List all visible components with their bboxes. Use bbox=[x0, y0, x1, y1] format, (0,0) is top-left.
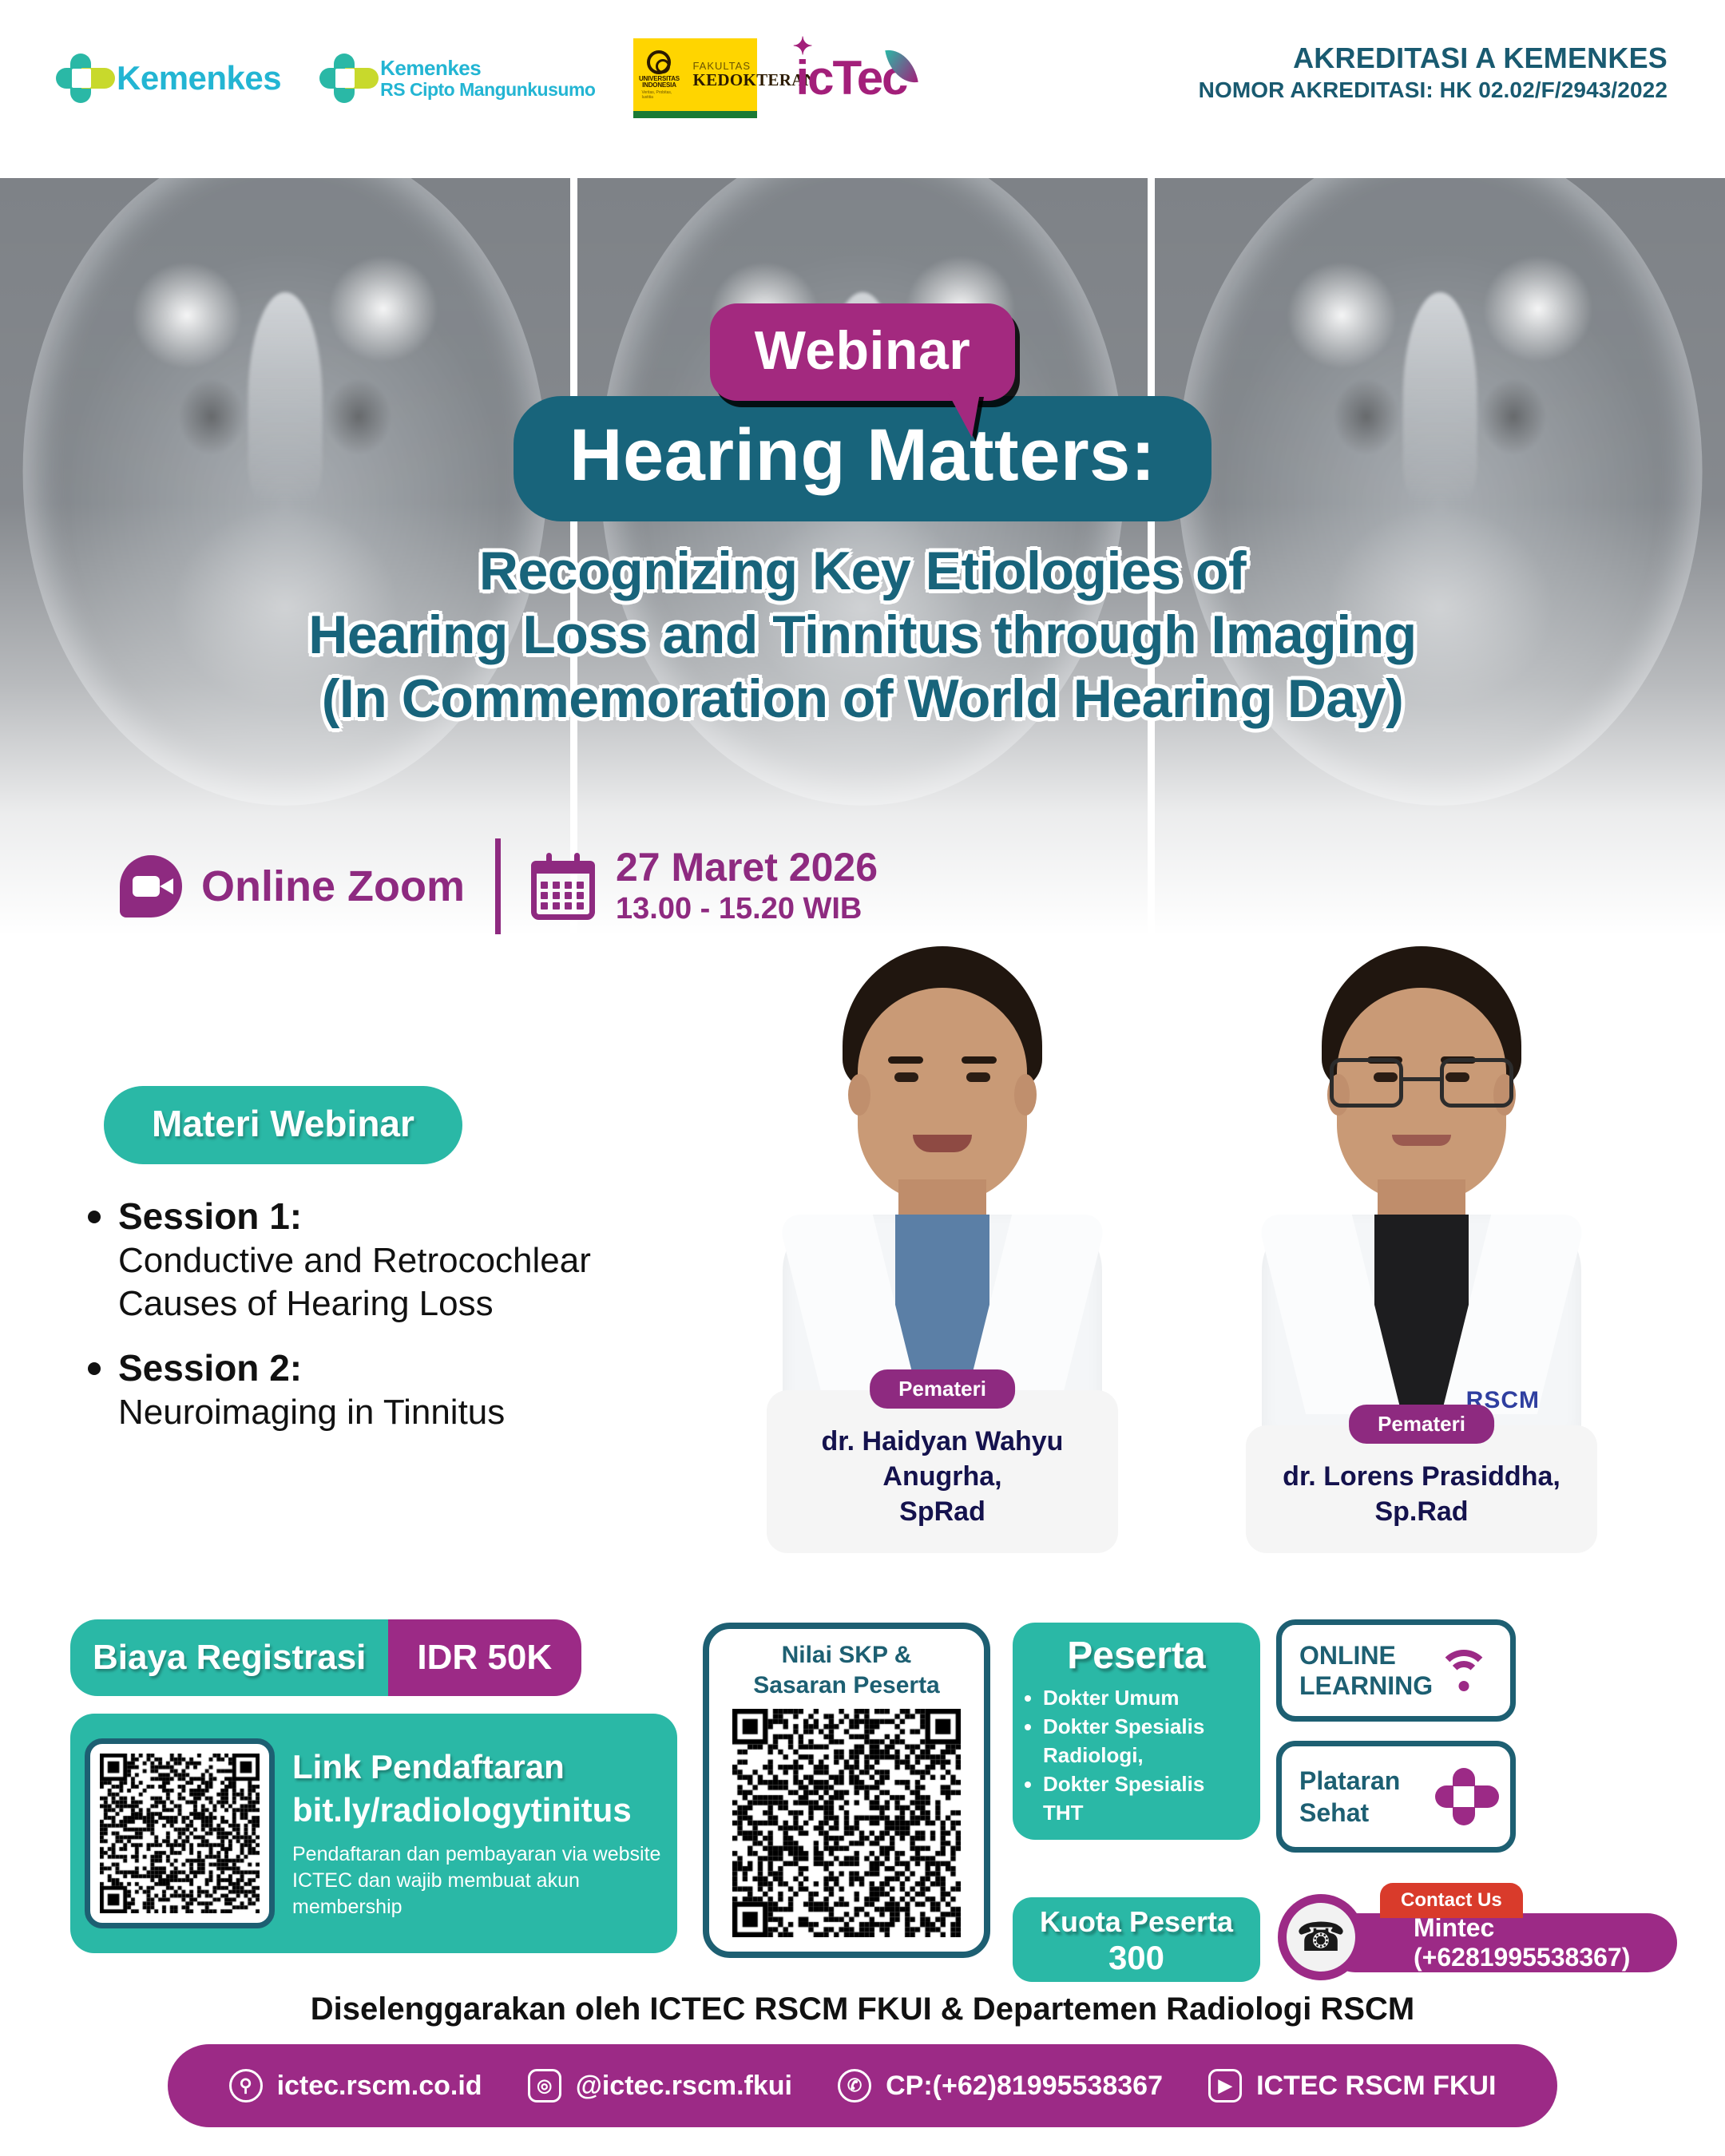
fee-label: Biaya Registrasi bbox=[70, 1619, 388, 1696]
date-text: 27 Maret 2026 13.00 - 15.20 WIB bbox=[616, 845, 878, 928]
page-header: Kemenkes Kemenkes RS Cipto Mangunkusumo … bbox=[0, 0, 1725, 178]
list-item: Session 1: Conductive and Retrocochlear … bbox=[88, 1193, 807, 1326]
platform-chip: Online Zoom bbox=[120, 855, 465, 917]
skp-box[interactable]: Nilai SKP & Sasaran Peserta bbox=[703, 1623, 990, 1958]
registration-qr-code[interactable] bbox=[85, 1738, 275, 1928]
kuota-value: 300 bbox=[1013, 1939, 1260, 1977]
logo-fkui: UNIVERSITAS INDONESIA Veritas, Probitas,… bbox=[633, 38, 757, 118]
materi-heading: Materi Webinar bbox=[104, 1086, 462, 1164]
fee-value: IDR 50K bbox=[388, 1619, 581, 1696]
accreditation-block: AKREDITASI A KEMENKES NOMOR AKREDITASI: … bbox=[1199, 42, 1667, 105]
peserta-box: Peserta Dokter Umum Dokter Spesialis Rad… bbox=[1013, 1623, 1260, 1840]
speaker-name-card: Pemateri dr. Haidyan Wahyu Anugrha, SpRa… bbox=[767, 1390, 1118, 1553]
registration-note: Pendaftaran dan pembayaran via website I… bbox=[292, 1841, 663, 1920]
instagram-icon: ◎ bbox=[528, 2069, 561, 2102]
kuota-label: Kuota Peserta bbox=[1013, 1905, 1260, 1939]
bullet-icon bbox=[88, 1211, 101, 1223]
ui-seal-icon: UNIVERSITAS INDONESIA Veritas, Probitas,… bbox=[641, 50, 676, 100]
event-date: 27 Maret 2026 bbox=[616, 845, 878, 890]
organizer-line: Diselenggarakan oleh ICTEC RSCM FKUI & D… bbox=[0, 1992, 1725, 2027]
list-item: Dokter Spesialis Radiologi, bbox=[1043, 1712, 1247, 1770]
logo-ictec: ✦ icTec bbox=[795, 54, 906, 102]
date-chip: 27 Maret 2026 13.00 - 15.20 WIB bbox=[531, 845, 878, 928]
list-item: Dokter Umum bbox=[1043, 1683, 1247, 1712]
social-youtube[interactable]: ▶ ICTEC RSCM FKUI bbox=[1208, 2069, 1496, 2102]
bullet-icon bbox=[88, 1362, 101, 1375]
whatsapp-icon: ✆ bbox=[838, 2069, 871, 2102]
contact-block[interactable]: Contact Us Mintec (+6281995538367) ☎ bbox=[1278, 1886, 1677, 1972]
page-subtitle: Recognizing Key Etiologies of Hearing Lo… bbox=[0, 539, 1725, 731]
logo-strip: Kemenkes Kemenkes RS Cipto Mangunkusumo … bbox=[56, 38, 906, 118]
accreditation-number: NOMOR AKREDITASI: HK 02.02/F/2943/2022 bbox=[1199, 75, 1667, 105]
skp-qr-code[interactable] bbox=[719, 1709, 974, 1937]
video-camera-icon bbox=[120, 855, 182, 917]
speaker-photo bbox=[783, 946, 1102, 1441]
registration-fee: Biaya Registrasi IDR 50K bbox=[70, 1619, 581, 1696]
title-block: Webinar Hearing Matters: Recognizing Key… bbox=[0, 303, 1725, 731]
kemenkes-mark-icon bbox=[56, 54, 105, 103]
calendar-icon bbox=[531, 853, 595, 920]
sparkle-icon: ✦ bbox=[792, 38, 810, 59]
search-icon: ⚲ bbox=[229, 2069, 263, 2102]
footer-social-bar: ⚲ ictec.rscm.co.id ◎ @ictec.rscm.fkui ✆ … bbox=[168, 2044, 1557, 2127]
divider bbox=[495, 838, 501, 934]
event-time: 13.00 - 15.20 WIB bbox=[616, 890, 878, 928]
role-badge: Pemateri bbox=[870, 1369, 1015, 1409]
contact-value[interactable]: Mintec (+6281995538367) bbox=[1414, 1913, 1677, 1972]
page-title: Hearing Matters: bbox=[514, 396, 1211, 521]
kemenkes-rscm-mark-icon bbox=[319, 54, 369, 103]
wifi-icon bbox=[1435, 1650, 1493, 1691]
materi-list: Session 1: Conductive and Retrocochlear … bbox=[88, 1174, 807, 1434]
glasses-icon bbox=[1330, 1058, 1513, 1108]
logo-kemenkes-rscm: Kemenkes RS Cipto Mangunkusumo bbox=[319, 54, 595, 103]
registration-url[interactable]: bit.ly/radiologytinitus bbox=[292, 1787, 663, 1833]
speaker-photo: RSCM bbox=[1262, 946, 1581, 1441]
accreditation-title: AKREDITASI A KEMENKES bbox=[1199, 42, 1667, 75]
phone-icon: ☎ bbox=[1278, 1894, 1364, 1980]
webinar-badge: Webinar bbox=[710, 303, 1016, 401]
kuota-box: Kuota Peserta 300 bbox=[1013, 1897, 1260, 1982]
plataran-sehat-badge: Plataran Sehat bbox=[1276, 1741, 1516, 1853]
peserta-heading: Peserta bbox=[1025, 1634, 1247, 1678]
kemenkes-wordmark: Kemenkes bbox=[117, 61, 281, 95]
speaker-name-card: Pemateri dr. Lorens Prasiddha, Sp.Rad bbox=[1246, 1425, 1597, 1553]
speaker-card-1: Pemateri dr. Haidyan Wahyu Anugrha, SpRa… bbox=[767, 946, 1118, 1553]
social-website[interactable]: ⚲ ictec.rscm.co.id bbox=[229, 2069, 482, 2102]
ictec-wordmark: ✦ icTec bbox=[795, 54, 906, 102]
social-whatsapp[interactable]: ✆ CP:(+62)81995538367 bbox=[838, 2069, 1163, 2102]
youtube-icon: ▶ bbox=[1208, 2069, 1242, 2102]
registration-link-box[interactable]: Link Pendaftaran bit.ly/radiologytinitus… bbox=[70, 1714, 677, 1953]
plataran-sehat-mark-icon bbox=[1435, 1768, 1493, 1825]
role-badge: Pemateri bbox=[1349, 1405, 1494, 1444]
list-item: Session 2: Neuroimaging in Tinnitus bbox=[88, 1345, 807, 1434]
list-item: Dokter Spesialis THT bbox=[1043, 1770, 1247, 1827]
platform-label: Online Zoom bbox=[201, 862, 465, 911]
link-heading: Link Pendaftaran bbox=[292, 1747, 663, 1787]
speakers-section: Pemateri dr. Haidyan Wahyu Anugrha, SpRa… bbox=[719, 946, 1725, 1553]
contact-label: Contact Us bbox=[1380, 1883, 1523, 1918]
speaker-card-2: RSCM Pemateri dr. Lorens Prasiddha, Sp.R… bbox=[1246, 946, 1597, 1553]
kemenkes-rscm-wordmark: Kemenkes RS Cipto Mangunkusumo bbox=[380, 57, 595, 100]
logo-kemenkes: Kemenkes bbox=[56, 54, 281, 103]
social-instagram[interactable]: ◎ @ictec.rscm.fkui bbox=[528, 2069, 792, 2102]
event-meta: Online Zoom 27 Maret 2026 13.00 - 15.20 … bbox=[120, 838, 878, 934]
online-learning-badge: ONLINE LEARNING bbox=[1276, 1619, 1516, 1722]
